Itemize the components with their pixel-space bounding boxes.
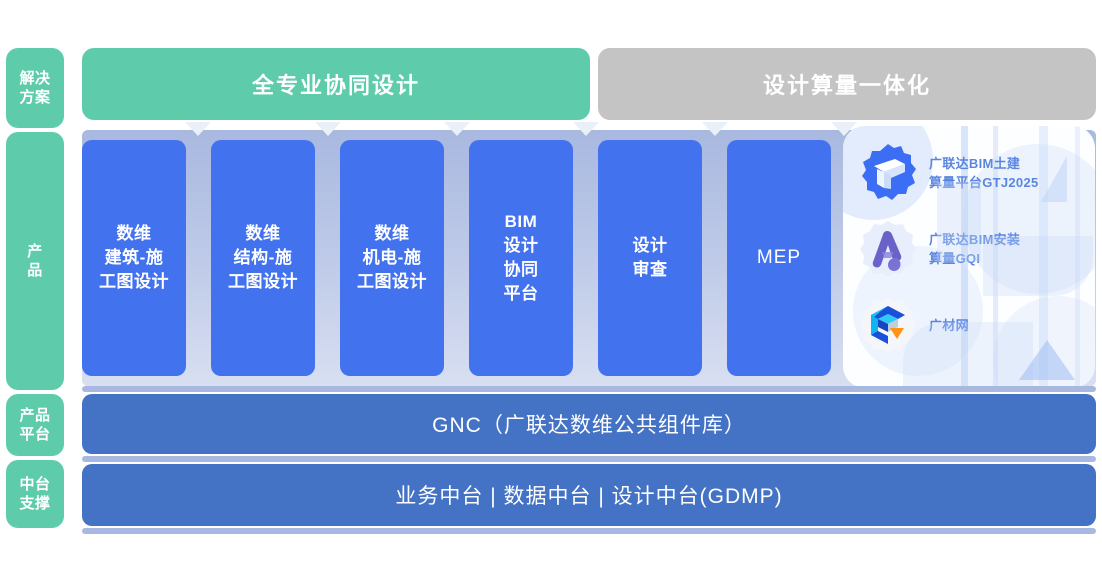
solution-bar-collaborative-design-label: 全专业协同设计 [252,68,420,100]
product-card-shuwei-architecture[interactable]: 数维 建筑-施 工图设计 [82,140,186,376]
product-card-line: 工图设计 [228,270,298,294]
sidebar-item-product-platform-line-0: 产品 [19,406,50,425]
product-card-line: 数维 [246,222,281,246]
product-card-design-review[interactable]: 设计 审查 [598,140,702,376]
product-card-bim-design-collab-platform[interactable]: BIM 设计 协同 平台 [469,140,573,376]
product-card-line: BIM [505,210,538,234]
sidebar-item-product-platform-line-1: 平台 [19,425,50,444]
product-card-line: MEP [757,246,801,270]
product-card-line: 机电-施 [363,246,422,270]
product-card-line: 审查 [633,258,668,282]
product-card-line: 设计 [633,234,668,258]
solution-bar-quantity-integration[interactable]: 设计算量一体化 [598,48,1096,120]
product-card-shuwei-structure[interactable]: 数维 结构-施 工图设计 [211,140,315,376]
platform-bar-gdmp-mid-platform[interactable]: 业务中台 | 数据中台 | 设计中台(GDMP) [82,464,1096,526]
sidebar-item-product-line-0: 产 [27,242,43,261]
letter-a-icon [857,218,919,280]
app-label: 广联达BIM安装 算量GQI [929,230,1020,268]
product-card-mep[interactable]: MEP [727,140,831,376]
product-card-line: 数维 [375,222,410,246]
product-card-line: 平台 [504,282,539,306]
sidebar-item-solution-line-0: 解决 [19,69,50,88]
sidebar-item-solution-line-1: 方案 [19,88,50,107]
app-label: 广联达BIM土建 算量平台GTJ2025 [929,154,1039,192]
quantity-apps-panel: 广联达BIM土建 算量平台GTJ2025 广联达BIM安装 算量GQI [843,126,1095,388]
app-label-line: 广联达BIM安装 [929,230,1020,249]
sidebar-item-product-line-1: 品 [27,261,43,280]
app-label: 广材网 [929,316,969,335]
cube-gear-icon [857,142,919,204]
platform-bar-gnc-label: GNC（广联达数维公共组件库） [432,409,746,439]
solution-bar-quantity-integration-label: 设计算量一体化 [763,68,931,100]
divider [82,528,1096,534]
product-card-line: 协同 [504,258,539,282]
product-card-shuwei-mep[interactable]: 数维 机电-施 工图设计 [340,140,444,376]
app-label-line: 广联达BIM土建 [929,154,1039,173]
sidebar-item-product[interactable]: 产 品 [6,132,64,390]
sidebar-item-mid-platform-support[interactable]: 中台 支撑 [6,460,64,528]
sidebar-item-solution[interactable]: 解决 方案 [6,48,64,128]
product-card-line: 数维 [117,222,152,246]
app-label-line: 算量平台GTJ2025 [929,173,1039,192]
product-card-line: 建筑-施 [105,246,164,270]
app-item-glodon-bim-civil-gtj[interactable]: 广联达BIM土建 算量平台GTJ2025 [857,142,1095,204]
architecture-diagram: 解决 方案 产 品 产品 平台 中台 支撑 全专业协同设计 设计算量一体化 数维… [0,0,1102,580]
solution-bar-collaborative-design[interactable]: 全专业协同设计 [82,48,590,120]
product-card-line: 结构-施 [234,246,293,270]
app-label-line: 广材网 [929,316,969,335]
platform-bar-gnc-component-library[interactable]: GNC（广联达数维公共组件库） [82,394,1096,454]
sidebar-item-product-platform[interactable]: 产品 平台 [6,394,64,456]
platform-bar-gdmp-label: 业务中台 | 数据中台 | 设计中台(GDMP) [395,480,782,510]
app-item-guangcai-net[interactable]: 广材网 [857,294,1095,356]
app-label-line: 算量GQI [929,249,1020,268]
product-card-line: 工图设计 [99,270,169,294]
app-item-glodon-bim-install-gqi[interactable]: 广联达BIM安装 算量GQI [857,218,1095,280]
divider [82,386,1096,392]
product-card-line: 设计 [504,234,539,258]
product-card-line: 工图设计 [357,270,427,294]
divider [82,456,1096,462]
sidebar-item-mid-platform-support-line-1: 支撑 [19,494,50,513]
cube-c-icon [857,294,919,356]
sidebar-item-mid-platform-support-line-0: 中台 [19,475,50,494]
